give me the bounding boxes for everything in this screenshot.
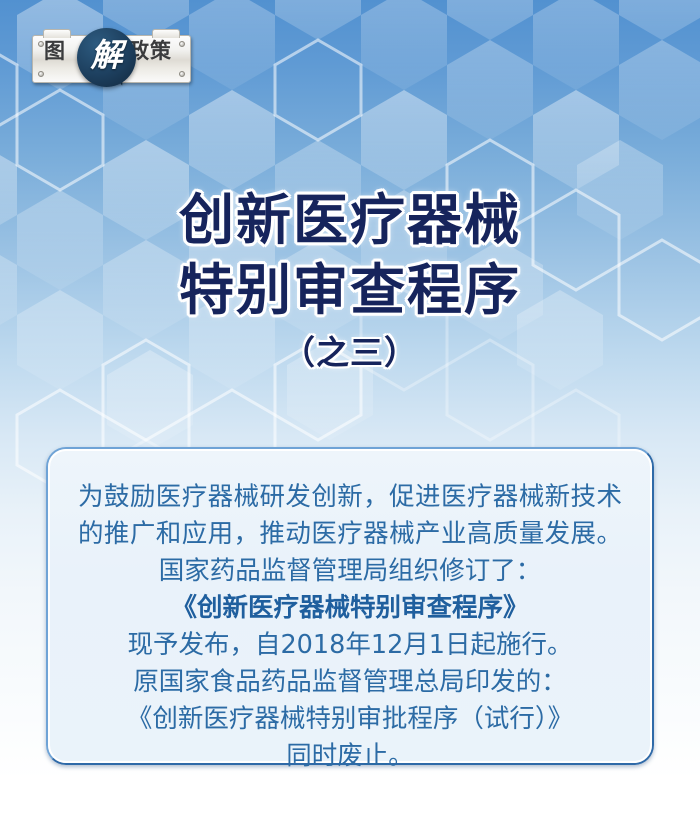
page-title: 创新医疗器械 特别审查程序 （之三） [0, 185, 700, 375]
content-card: 为鼓励医疗器械研发创新，促进医疗器械新技术 的推广和应用，推动医疗器械产业高质量… [46, 447, 654, 765]
rivet-top-right [179, 41, 185, 47]
body-line: 的推广和应用，推动医疗器械产业高质量发展。 [66, 516, 634, 553]
body-line: 现予发布，自2018年12月1日起施行。 [66, 627, 634, 664]
logo-char-tu: 图 [44, 41, 66, 62]
plate-notch-left [43, 29, 71, 38]
content-card-inner: 为鼓励医疗器械研发创新，促进医疗器械新技术 的推广和应用，推动医疗器械产业高质量… [48, 449, 652, 763]
tujie-zhengce-logo[interactable]: 图 政策 解 [24, 27, 189, 89]
body-line: 原国家食品药品监督管理总局印发的： [66, 664, 634, 701]
logo-char-jie: 解 [77, 39, 136, 71]
title-subtitle: （之三） [0, 331, 700, 375]
title-line-2: 特别审查程序 [0, 255, 700, 325]
body-line: 同时废止。 [66, 738, 634, 775]
rivet-bottom-right [179, 71, 185, 77]
body-line-regulation-title: 《创新医疗器械特别审查程序》 [66, 590, 634, 627]
plate-notch-right [152, 29, 180, 38]
body-line: 国家药品监督管理局组织修订了： [66, 553, 634, 590]
poster-root: 图 政策 解 创新医疗器械 特别审查程序 （之三） 为鼓励医疗器械研发创新，促进… [0, 0, 700, 815]
body-line-repealed-title: 《创新医疗器械特别审批程序（试行）》 [66, 701, 634, 738]
body-line: 为鼓励医疗器械研发创新，促进医疗器械新技术 [66, 479, 634, 516]
rivet-bottom-left [38, 71, 44, 77]
title-line-1: 创新医疗器械 [0, 185, 700, 255]
